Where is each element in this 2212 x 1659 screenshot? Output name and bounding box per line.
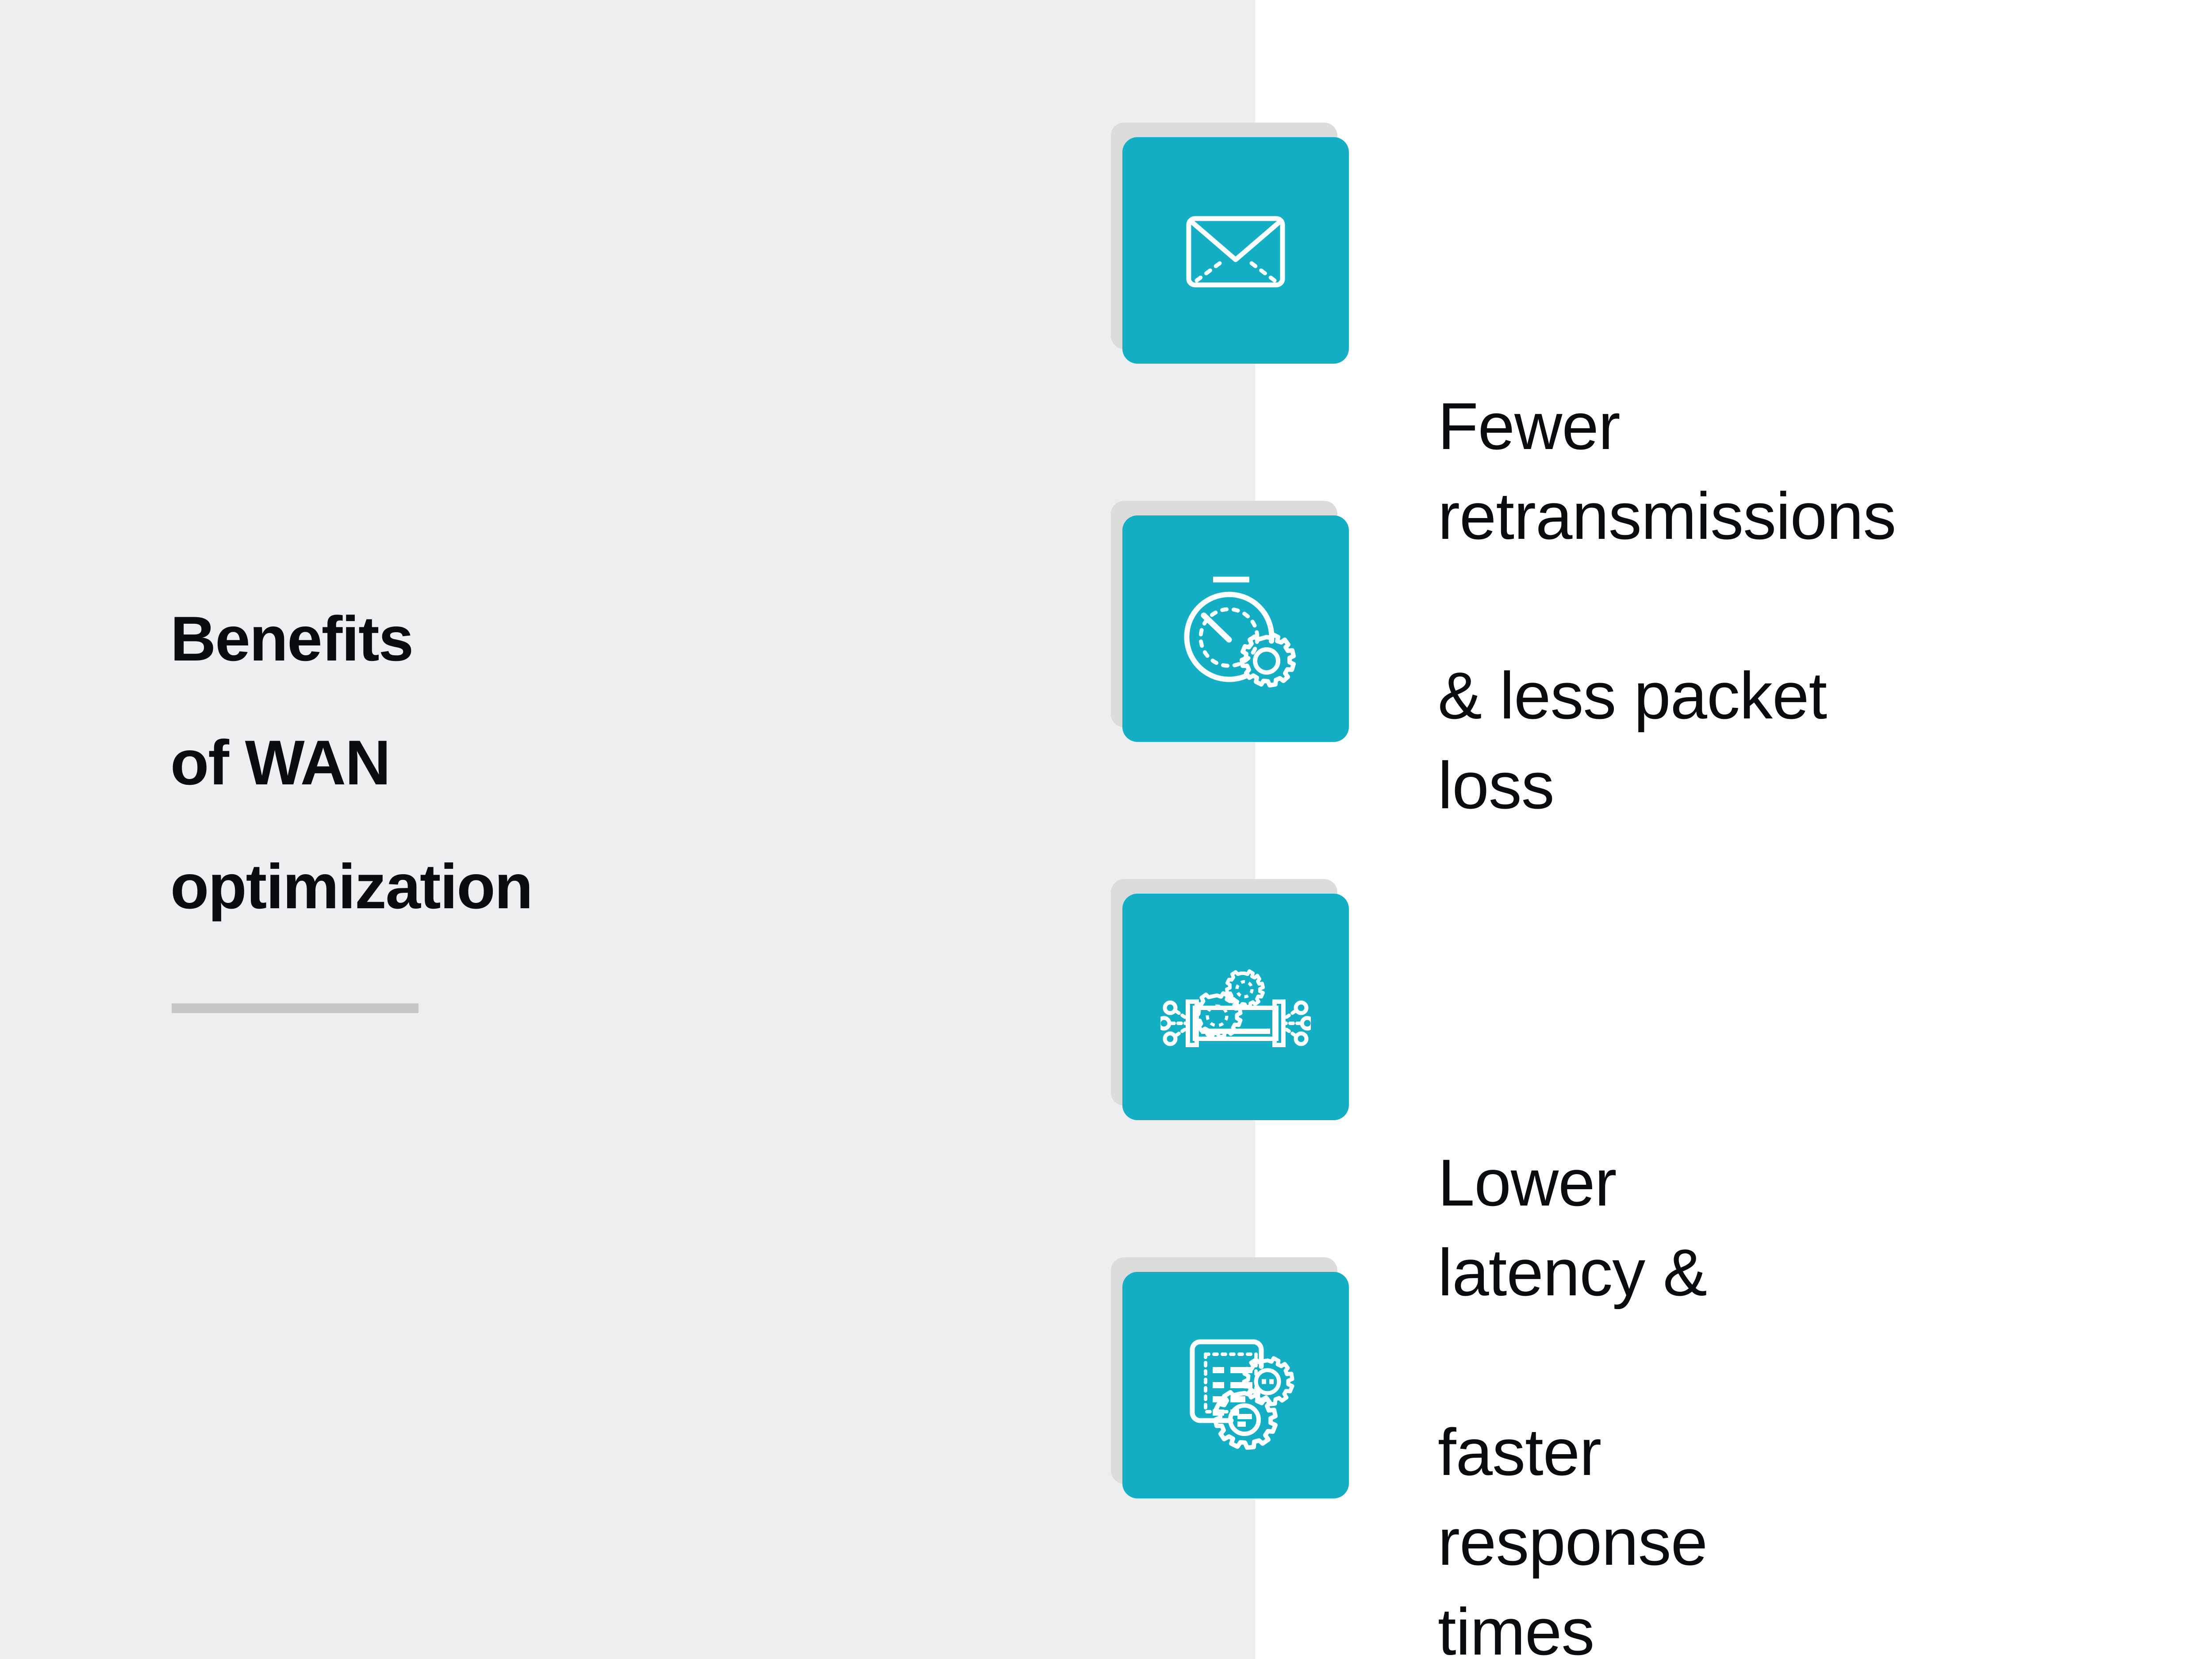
stopwatch-gear-icon — [1167, 560, 1304, 697]
pipeline-throughput-icon — [1160, 941, 1311, 1073]
tile-face — [1122, 1272, 1349, 1498]
document-gears-icon — [1165, 1314, 1306, 1456]
page-title: Benefits of WAN optimization — [170, 577, 922, 949]
title-line-3: optimization — [170, 825, 922, 949]
tile-face — [1122, 894, 1349, 1120]
benefit-text-2: Lower latency & faster response times — [1438, 1048, 1707, 1659]
benefit-line-2b: faster response times — [1438, 1407, 1707, 1659]
title-divider — [172, 1003, 419, 1013]
envelope-icon — [1169, 184, 1302, 317]
benefit-line-1b: & less packet loss — [1438, 651, 1896, 830]
title-line-2: of WAN — [170, 701, 922, 825]
tile-face — [1122, 515, 1349, 742]
slide-canvas: Benefits of WAN optimization Fewer retra… — [0, 0, 2212, 1659]
title-line-1: Benefits — [170, 577, 922, 701]
benefit-line-2a: Lower latency & — [1438, 1138, 1707, 1317]
tile-face — [1122, 137, 1349, 364]
benefit-text-1: Fewer retransmissions & less packet loss — [1438, 292, 1896, 920]
benefit-line-1a: Fewer retransmissions — [1438, 381, 1896, 561]
